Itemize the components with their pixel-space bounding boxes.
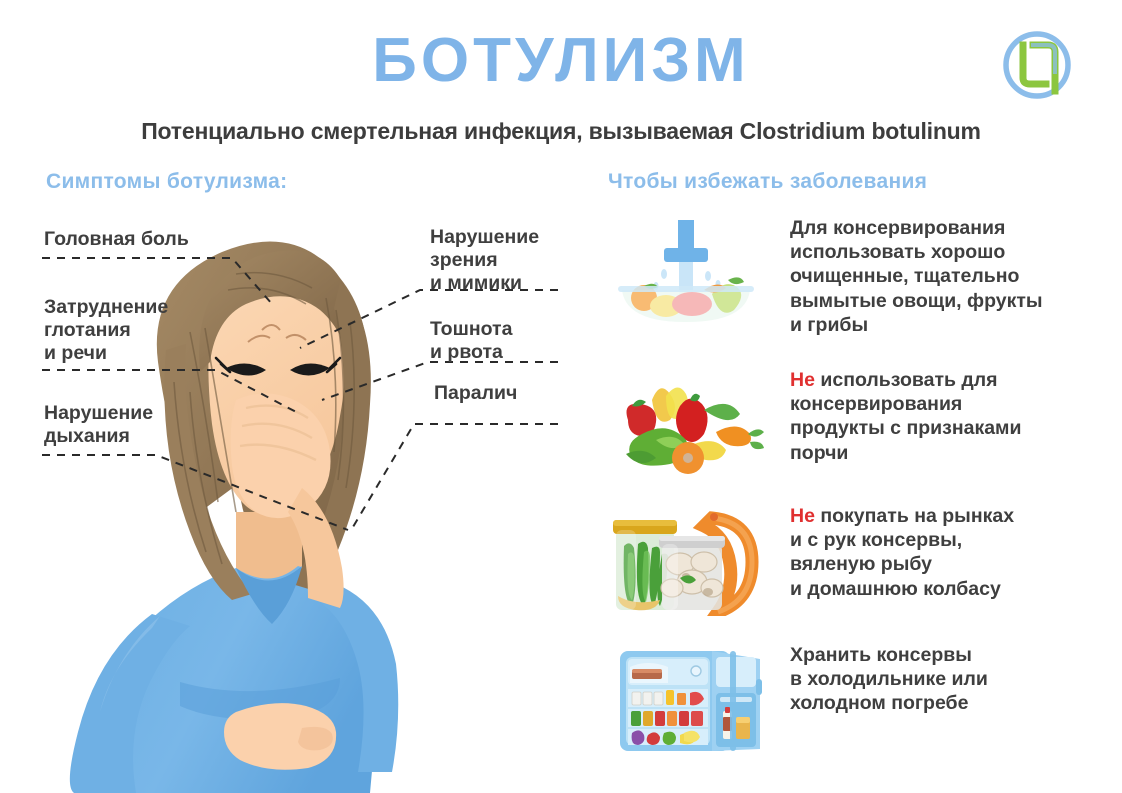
fresh-vegetables-icon bbox=[608, 370, 768, 480]
prevention-text-spoiled: Не использовать для консервирования прод… bbox=[790, 368, 1110, 465]
page-title: БОТУЛИЗМ bbox=[0, 30, 1122, 92]
symptoms-heading: Симптомы ботулизма: bbox=[46, 170, 287, 194]
prevention-text-washing: Для консервирования использовать хорошо … bbox=[790, 216, 1110, 337]
washing-vegetables-icon bbox=[608, 218, 768, 328]
page-subtitle: Потенциально смертельная инфекция, вызыв… bbox=[0, 118, 1122, 145]
canned-jars-icon bbox=[608, 506, 768, 616]
symptom-label-swallowing-speech: Затруднение глотания и речи bbox=[44, 296, 168, 365]
prevention-heading: Чтобы избежать заболевания bbox=[608, 170, 927, 194]
prevention-body: покупать на рынках и с рук консервы, вял… bbox=[790, 505, 1014, 600]
health-center-logo bbox=[1000, 28, 1074, 102]
symptom-label-headache: Головная боль bbox=[44, 228, 189, 251]
symptom-label-nausea-vomiting: Тошнота и рвота bbox=[430, 318, 512, 364]
prevention-body: Хранить консервы в холодильнике или холо… bbox=[790, 644, 988, 714]
refrigerator-icon bbox=[608, 645, 768, 755]
symptom-label-vision-mimicry: Нарушение зрения и мимики bbox=[430, 226, 539, 295]
prevention-prefix: Не bbox=[790, 369, 815, 391]
prevention-text-storage: Хранить консервы в холодильнике или холо… bbox=[790, 643, 1110, 716]
prevention-prefix: Не bbox=[790, 505, 815, 527]
prevention-text-market: Не покупать на рынках и с рук консервы, … bbox=[790, 504, 1110, 601]
symptom-label-breathing: Нарушение дыхания bbox=[44, 402, 153, 448]
prevention-body: использовать для консервирования продукт… bbox=[790, 369, 1021, 464]
infographic-page: БОТУЛИЗМ Потенциально смертельная инфекц… bbox=[0, 0, 1122, 793]
symptom-label-paralysis: Паралич bbox=[434, 382, 517, 405]
prevention-body: Для консервирования использовать хорошо … bbox=[790, 217, 1043, 336]
